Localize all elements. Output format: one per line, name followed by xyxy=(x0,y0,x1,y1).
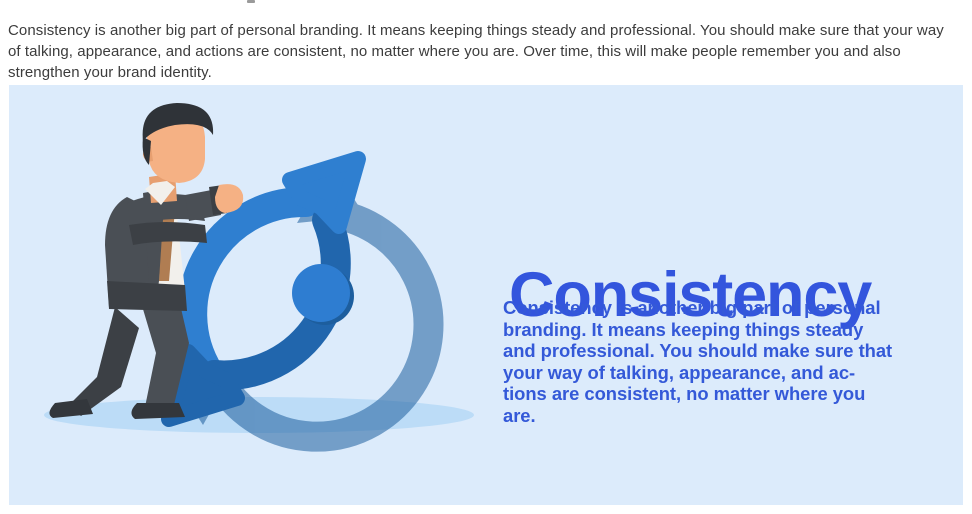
consistency-card: Consistency Consistency is another big p… xyxy=(9,85,963,505)
card-body-line: Consistency is another big part of perso… xyxy=(503,297,928,319)
cycle-center-dot xyxy=(292,264,350,322)
card-body-line: are. xyxy=(503,405,928,427)
card-body-line: branding. It means keeping things steady xyxy=(503,319,928,341)
back-leg xyxy=(69,307,139,416)
cut-off-text-sliver xyxy=(247,0,255,3)
card-body-text: Consistency is another big part of perso… xyxy=(503,297,928,427)
page-root: Consistency is another big part of perso… xyxy=(0,0,972,514)
card-body-line: tions are consistent, no matter where yo… xyxy=(503,383,928,405)
illustration-businessman-pushing-cycle xyxy=(9,85,509,505)
jacket-hip xyxy=(107,281,187,311)
card-body-line: your way of talking, appearance, and ac- xyxy=(503,362,928,384)
card-body-line: and professional. You should make sure t… xyxy=(503,340,928,362)
front-shoe xyxy=(131,403,185,419)
intro-paragraph: Consistency is another big part of perso… xyxy=(8,20,960,83)
